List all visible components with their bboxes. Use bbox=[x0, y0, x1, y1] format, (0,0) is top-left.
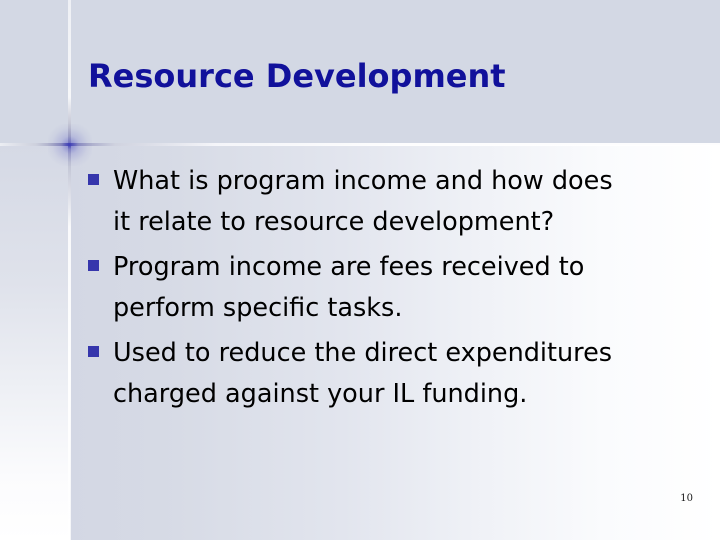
list-item-label: Program income are fees received to perf… bbox=[113, 247, 673, 329]
page-number: 10 bbox=[680, 493, 693, 504]
slide-left-strip-background bbox=[0, 145, 70, 540]
square-bullet-icon bbox=[88, 174, 99, 185]
list-item: What is program income and how does it r… bbox=[88, 161, 688, 243]
list-item: Program income are fees received to perf… bbox=[88, 247, 688, 329]
slide-title: Resource Development bbox=[88, 57, 688, 95]
list-item: Used to reduce the direct expenditures c… bbox=[88, 333, 688, 415]
horizontal-rule-decoration bbox=[0, 143, 720, 146]
slide-bullet-list: What is program income and how does it r… bbox=[88, 161, 688, 419]
square-bullet-icon bbox=[88, 346, 99, 357]
vertical-rule-decoration bbox=[68, 0, 71, 540]
list-item-label: What is program income and how does it r… bbox=[113, 161, 613, 243]
list-item-label: Used to reduce the direct expenditures c… bbox=[113, 333, 688, 415]
presentation-slide: Resource Development What is program inc… bbox=[0, 0, 720, 540]
square-bullet-icon bbox=[88, 260, 99, 271]
